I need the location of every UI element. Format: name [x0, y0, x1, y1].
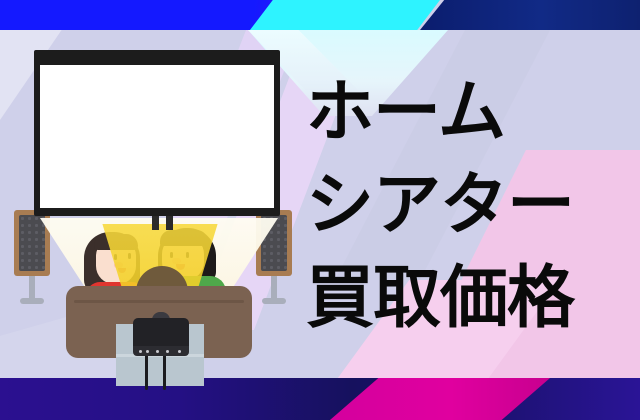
- top-band-navy: [420, 0, 640, 30]
- headline: ホーム シアター 買取価格: [306, 66, 636, 345]
- screen-leg-right: [166, 214, 173, 230]
- headline-line-2: シアター: [306, 159, 636, 252]
- bottom-color-band: [0, 378, 640, 420]
- top-color-band: [0, 0, 640, 30]
- speaker-left-grille: [19, 215, 45, 271]
- projector-screen-surface: [40, 65, 274, 208]
- projector-port-3: [156, 350, 159, 353]
- speaker-right-base: [262, 298, 286, 304]
- headline-line-1: ホーム: [306, 66, 636, 159]
- projector-port-2: [146, 350, 149, 353]
- home-theater-illustration: [0, 28, 320, 378]
- sofa-seam: [74, 300, 244, 303]
- top-band-blue: [0, 0, 260, 30]
- screen-leg-left: [152, 214, 159, 230]
- speaker-left-base: [20, 298, 44, 304]
- top-band-cyan: [250, 0, 440, 30]
- bottom-band-dark-blue: [0, 378, 640, 420]
- projector-port-1: [139, 350, 142, 353]
- speaker-left-pole: [29, 276, 35, 300]
- speaker-right-pole: [271, 276, 277, 300]
- cable-left: [145, 350, 148, 390]
- projector-port-4: [166, 350, 169, 353]
- cable-right: [163, 350, 166, 390]
- projector-screen-frame: [34, 50, 280, 216]
- projector-port-5: [178, 350, 181, 353]
- home-theater-banner: ホーム シアター 買取価格: [0, 0, 640, 420]
- headline-line-3: 買取価格: [306, 252, 636, 345]
